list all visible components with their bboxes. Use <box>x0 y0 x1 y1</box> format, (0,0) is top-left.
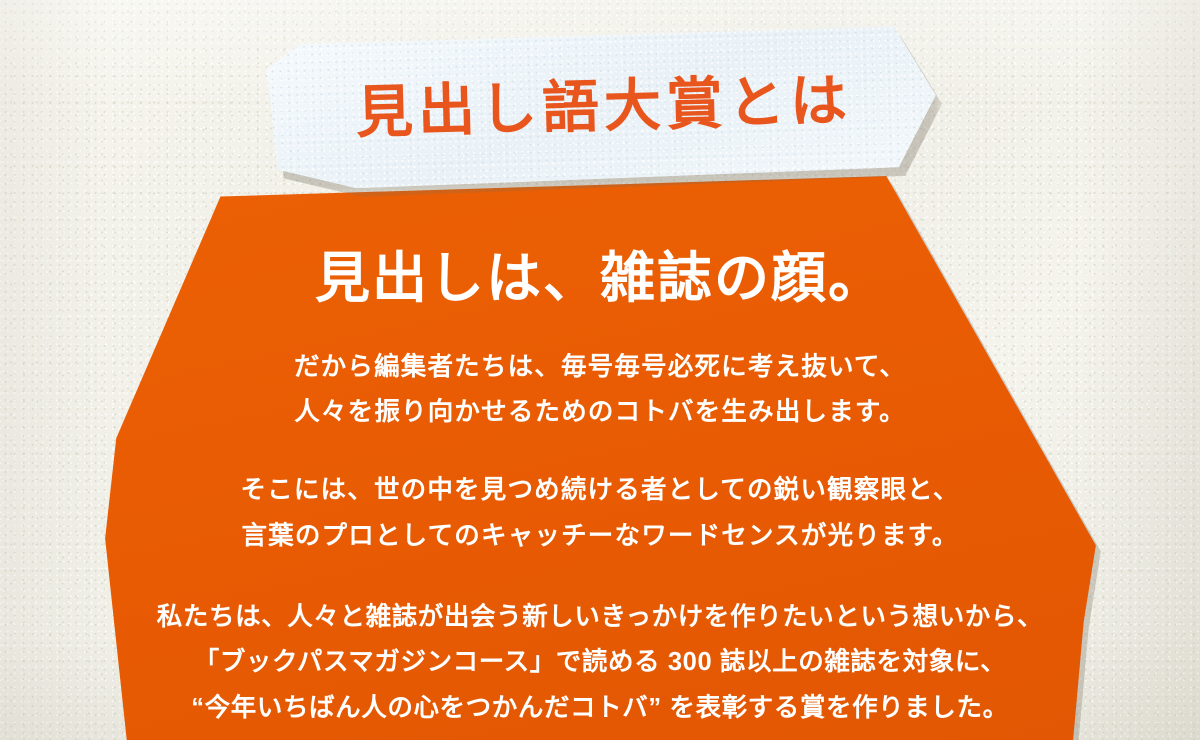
paragraph-line: 「ブックパスマガジンコース」で読める 300 誌以上の雑誌を対象に、 <box>157 640 1043 685</box>
banner-paper: 見出し語大賞とは <box>266 26 938 191</box>
panel-paragraph-1: だから編集者たちは、毎号毎号必死に考え抜いて、 人々を振り向かせるためのコトバを… <box>294 345 906 436</box>
paragraph-line: “今年いちばん人の心をつかんだコトバ” を表彰する賞を作りました。 <box>157 686 1043 731</box>
paragraph-line: 私たちは、人々と雑誌が出会う新しいきっかけを作りたいという想いから、 <box>157 595 1043 640</box>
panel-headline: 見出しは、雑誌の顔。 <box>315 248 885 309</box>
paragraph-line: 人々を振り向かせるためのコトバを生み出します。 <box>294 390 906 435</box>
paragraph-line: 言葉のプロとしてのキャッチーなワードセンスが光ります。 <box>240 514 959 559</box>
panel-paragraph-2: そこには、世の中を見つめ続ける者としての鋭い観察眼と、 言葉のプロとしてのキャッ… <box>240 468 959 559</box>
panel-paragraph-3: 私たちは、人々と雑誌が出会う新しいきっかけを作りたいという想いから、 「ブックパ… <box>157 595 1043 731</box>
paragraph-line: そこには、世の中を見つめ続ける者としての鋭い観察眼と、 <box>240 468 959 513</box>
section-title-banner: 見出し語大賞とは <box>266 26 938 191</box>
promo-section: 見出し語大賞とは 見出しは、雑誌の顔。 だから編集者たちは、毎号毎号必死に考え抜… <box>0 0 1200 740</box>
section-title: 見出し語大賞とは <box>355 72 852 142</box>
paragraph-line: だから編集者たちは、毎号毎号必死に考え抜いて、 <box>294 345 906 390</box>
